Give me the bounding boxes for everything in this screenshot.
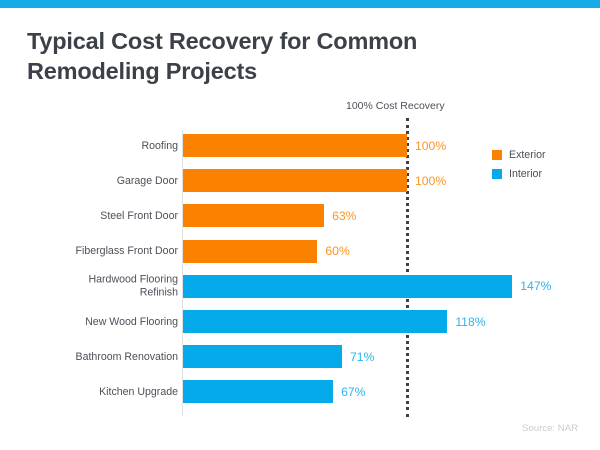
bar-interior[interactable]: [183, 380, 333, 403]
legend-item-interior[interactable]: Interior: [492, 165, 546, 182]
category-label-line-2: Refinish: [12, 286, 178, 299]
bar-interior[interactable]: [183, 275, 512, 298]
table-row: Kitchen Upgrade67%: [0, 380, 600, 403]
bar-exterior[interactable]: [183, 134, 407, 157]
legend-swatch-icon: [492, 150, 502, 160]
table-row: Hardwood FlooringRefinish147%: [0, 275, 600, 298]
bar-value-label: 100%: [415, 174, 446, 188]
bar-value-label: 118%: [455, 315, 485, 329]
bar-value-label: 63%: [332, 209, 356, 223]
bar-value-label: 67%: [341, 385, 365, 399]
category-label: Fiberglass Front Door: [12, 245, 178, 258]
bar-value-label: 60%: [325, 244, 349, 258]
table-row: Bathroom Renovation71%: [0, 345, 600, 368]
category-label: Bathroom Renovation: [12, 350, 178, 363]
legend-swatch-icon: [492, 169, 502, 179]
plot-area: 100% Cost Recovery Roofing100%Garage Doo…: [0, 0, 600, 450]
category-label: Kitchen Upgrade: [12, 386, 178, 399]
category-label-line-1: Hardwood Flooring: [12, 274, 178, 287]
category-label-line-1: Garage Door: [12, 174, 178, 187]
bar-interior[interactable]: [183, 345, 342, 368]
bar-value-label: 71%: [350, 350, 374, 364]
category-label-line-1: Fiberglass Front Door: [12, 245, 178, 258]
category-label: Garage Door: [12, 174, 178, 187]
bar-rows: Roofing100%Garage Door100%Steel Front Do…: [0, 0, 600, 450]
category-label: Roofing: [12, 139, 178, 152]
category-label-line-1: Steel Front Door: [12, 210, 178, 223]
legend-item-label: Exterior: [509, 149, 546, 161]
bar-interior[interactable]: [183, 310, 447, 333]
legend-item-label: Interior: [509, 168, 542, 180]
table-row: Fiberglass Front Door60%: [0, 240, 600, 263]
bar-exterior[interactable]: [183, 240, 317, 263]
bar-exterior[interactable]: [183, 169, 407, 192]
category-label-line-1: New Wood Flooring: [12, 315, 178, 328]
chart-page: Typical Cost Recovery for Common Remodel…: [0, 0, 600, 450]
category-label-line-1: Bathroom Renovation: [12, 350, 178, 363]
category-label-line-1: Roofing: [12, 139, 178, 152]
table-row: New Wood Flooring118%: [0, 310, 600, 333]
category-label: New Wood Flooring: [12, 315, 178, 328]
bar-exterior[interactable]: [183, 204, 324, 227]
bar-value-label: 100%: [415, 139, 446, 153]
category-label: Steel Front Door: [12, 210, 178, 223]
bar-value-label: 147%: [520, 279, 551, 293]
legend: ExteriorInterior: [492, 146, 546, 184]
category-label-line-1: Kitchen Upgrade: [12, 386, 178, 399]
table-row: Steel Front Door63%: [0, 204, 600, 227]
legend-item-exterior[interactable]: Exterior: [492, 146, 546, 163]
source-note: Source: NAR: [522, 423, 578, 434]
category-label: Hardwood FlooringRefinish: [12, 274, 178, 299]
